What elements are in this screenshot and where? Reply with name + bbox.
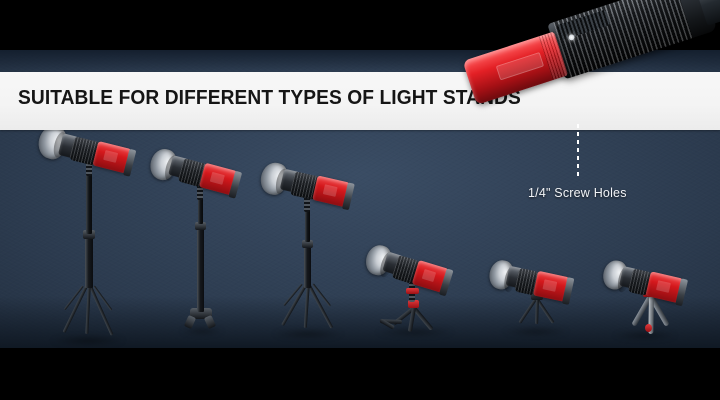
banner-image: SUITABLE FOR DIFFERENT TYPES OF LIGHT ST… (0, 0, 720, 400)
callout-leader-line (577, 124, 579, 180)
floor-shadow (36, 334, 140, 347)
floor-shadow (360, 326, 470, 338)
stand-column-lower (304, 246, 311, 288)
page-title: SUITABLE FOR DIFFERENT TYPES OF LIGHT ST… (18, 86, 504, 110)
hero-product-badge (496, 52, 544, 80)
stand-column-upper (305, 210, 310, 242)
product-badge (656, 280, 671, 293)
hero-red-housing (463, 32, 569, 105)
product-badge (322, 184, 337, 197)
leg-foot-accent (645, 324, 652, 332)
callout-label: 1/4" Screw Holes (528, 186, 627, 200)
column-lock-joint (406, 288, 419, 294)
floor-shadow (172, 326, 232, 336)
floor-shadow (600, 330, 690, 341)
floor-shadow (258, 328, 358, 340)
pole-upper (198, 198, 203, 224)
product-badge (422, 269, 437, 282)
floor-shadow (490, 326, 582, 337)
product-badge (103, 150, 119, 163)
product-badge (209, 172, 224, 185)
pole-lower (197, 228, 204, 312)
stand-column-upper (86, 172, 92, 234)
stand-column-lower (85, 236, 93, 288)
product-badge (543, 279, 558, 291)
